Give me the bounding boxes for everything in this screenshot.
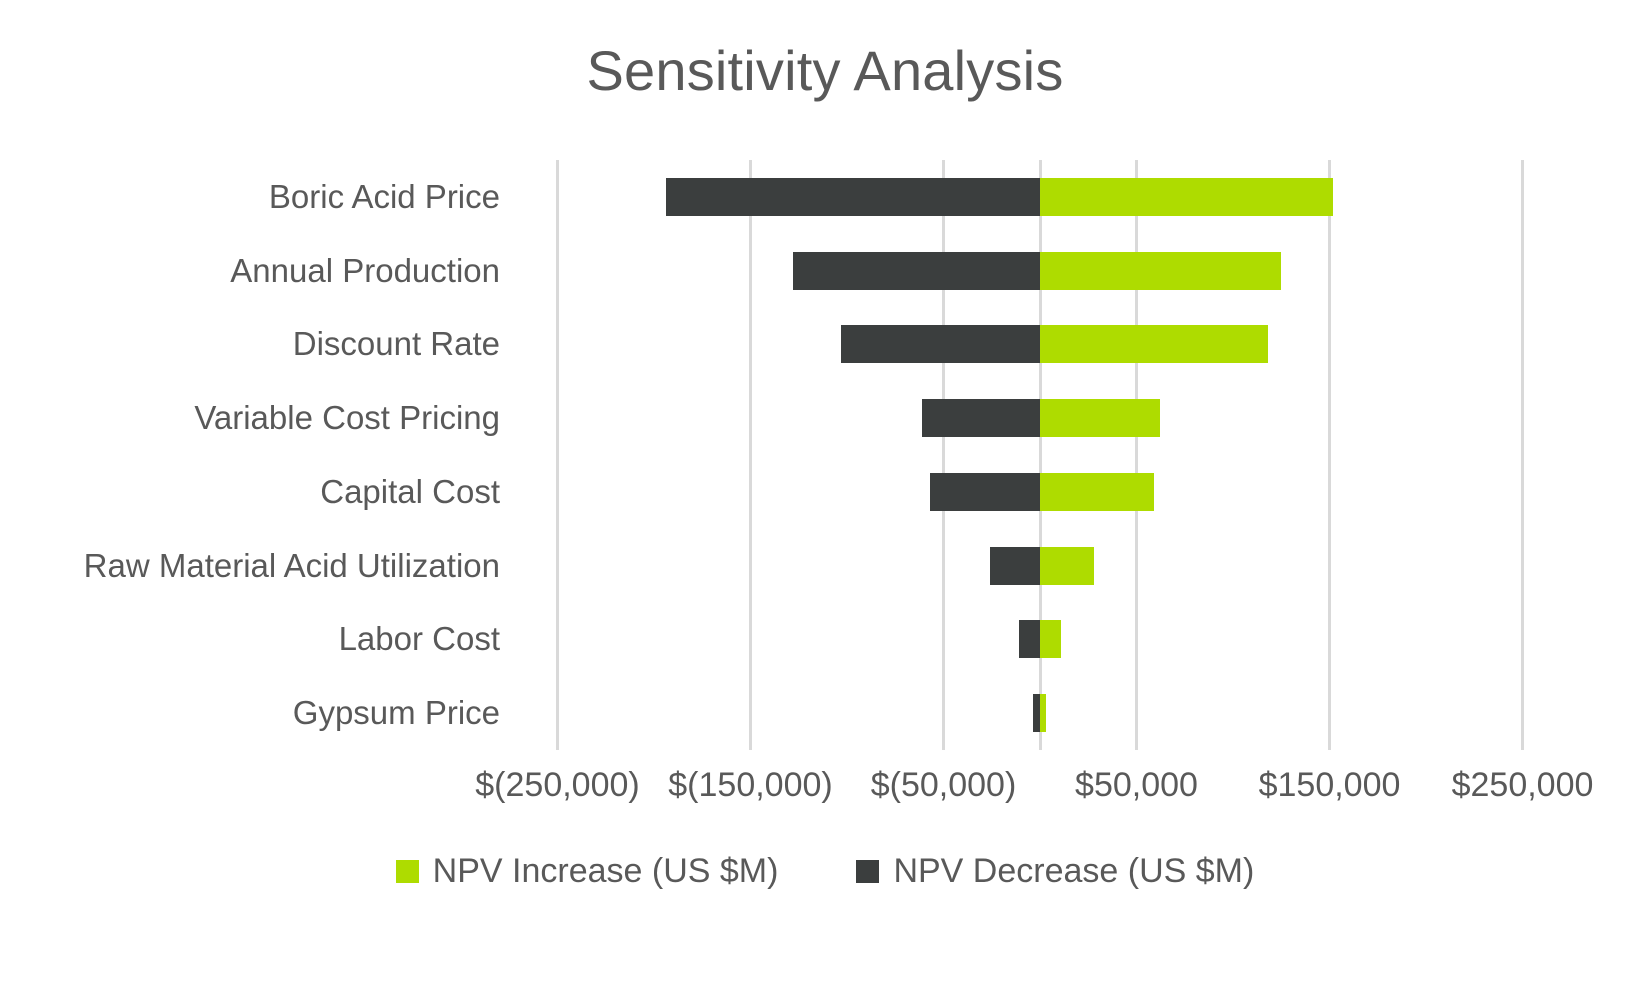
- x-axis-tick-labels: $(250,000)$(150,000)$(50,000)$50,000$150…: [0, 766, 1650, 826]
- bar-npv-increase[interactable]: [1040, 620, 1061, 658]
- category-label: Raw Material Acid Utilization: [84, 547, 500, 585]
- x-tick-label: $50,000: [1075, 766, 1198, 805]
- bar-row: Labor Cost: [0, 603, 1650, 677]
- chart-title: Sensitivity Analysis: [0, 38, 1650, 103]
- x-tick-label: $(250,000): [475, 766, 639, 805]
- category-label: Gypsum Price: [293, 694, 500, 732]
- legend-item[interactable]: NPV Increase (US $M): [396, 852, 779, 891]
- legend-item[interactable]: NPV Decrease (US $M): [856, 852, 1254, 891]
- bar-npv-decrease[interactable]: [922, 399, 1040, 437]
- category-label: Labor Cost: [339, 620, 500, 658]
- bar-npv-decrease[interactable]: [990, 547, 1040, 585]
- bar-row: Annual Production: [0, 234, 1650, 308]
- bar-npv-increase[interactable]: [1040, 252, 1281, 290]
- sensitivity-analysis-chart: Sensitivity Analysis Boric Acid PriceAnn…: [0, 0, 1650, 990]
- x-tick-label: $(50,000): [871, 766, 1017, 805]
- bar-npv-increase[interactable]: [1040, 325, 1268, 363]
- bar-row: Discount Rate: [0, 308, 1650, 382]
- bar-npv-increase[interactable]: [1040, 547, 1094, 585]
- bar-row: Capital Cost: [0, 455, 1650, 529]
- bar-npv-increase[interactable]: [1040, 178, 1333, 216]
- bar-row: Variable Cost Pricing: [0, 381, 1650, 455]
- category-label: Variable Cost Pricing: [194, 399, 500, 437]
- bar-npv-increase[interactable]: [1040, 694, 1046, 732]
- legend-label: NPV Increase (US $M): [433, 852, 779, 891]
- category-label: Discount Rate: [293, 325, 500, 363]
- bar-row: Gypsum Price: [0, 676, 1650, 750]
- category-label: Boric Acid Price: [269, 178, 500, 216]
- bar-npv-decrease[interactable]: [793, 252, 1040, 290]
- chart-legend: NPV Increase (US $M)NPV Decrease (US $M): [0, 852, 1650, 891]
- category-label: Annual Production: [230, 252, 500, 290]
- legend-label: NPV Decrease (US $M): [893, 852, 1254, 891]
- bar-npv-decrease[interactable]: [930, 473, 1040, 511]
- bar-row: Boric Acid Price: [0, 160, 1650, 234]
- legend-swatch-icon: [856, 860, 879, 883]
- x-tick-label: $(150,000): [668, 766, 832, 805]
- bar-npv-decrease[interactable]: [666, 178, 1040, 216]
- bar-npv-increase[interactable]: [1040, 399, 1160, 437]
- bar-npv-decrease[interactable]: [1033, 694, 1040, 732]
- bar-npv-increase[interactable]: [1040, 473, 1154, 511]
- bar-row: Raw Material Acid Utilization: [0, 529, 1650, 603]
- x-tick-label: $250,000: [1452, 766, 1594, 805]
- bar-npv-decrease[interactable]: [841, 325, 1040, 363]
- category-label: Capital Cost: [320, 473, 500, 511]
- plot-area: Boric Acid PriceAnnual ProductionDiscoun…: [0, 160, 1650, 750]
- bar-rows: Boric Acid PriceAnnual ProductionDiscoun…: [0, 160, 1650, 750]
- bar-npv-decrease[interactable]: [1019, 620, 1040, 658]
- legend-swatch-icon: [396, 860, 419, 883]
- x-tick-label: $150,000: [1259, 766, 1401, 805]
